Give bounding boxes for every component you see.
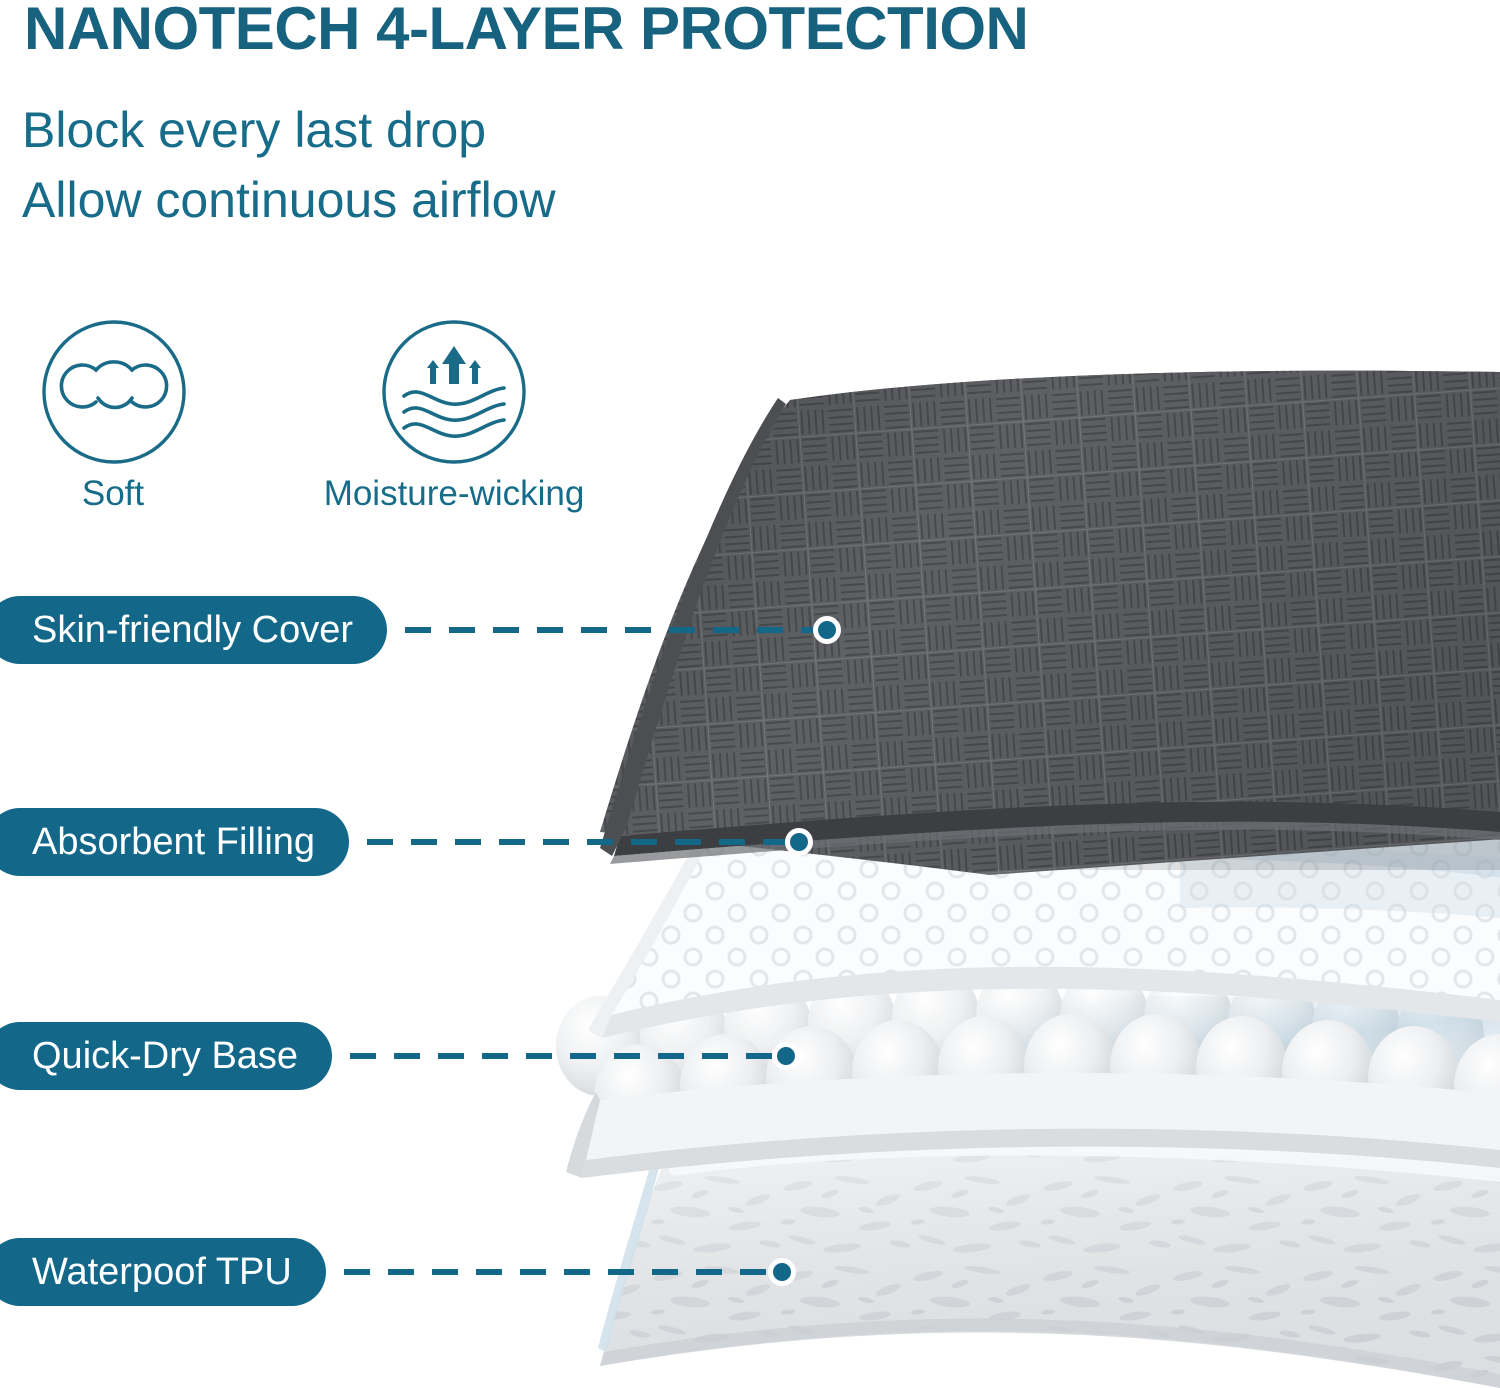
feature-soft-label: Soft (36, 474, 190, 514)
leader-line (367, 839, 785, 845)
callout-label: Skin-friendly Cover (32, 611, 353, 649)
callout-label: Quick-Dry Base (32, 1037, 298, 1075)
leader-endpoint-dot (813, 616, 841, 644)
callout-waterproof-tpu[interactable]: Waterpoof TPU (0, 1238, 768, 1306)
leader-line (344, 1269, 768, 1275)
subtitle-line-1: Block every last drop (22, 105, 486, 155)
callout-skin-friendly-cover[interactable]: Skin-friendly Cover (0, 596, 813, 664)
callout-absorbent-filling[interactable]: Absorbent Filling (0, 808, 785, 876)
leader-endpoint-dot (768, 1258, 796, 1286)
leader-line (405, 627, 813, 633)
callout-label: Absorbent Filling (32, 823, 315, 861)
callout-quick-dry-base[interactable]: Quick-Dry Base (0, 1022, 772, 1090)
callout-pill[interactable]: Quick-Dry Base (0, 1022, 332, 1090)
layer-absorbent-filling (560, 760, 1500, 1050)
feature-moisture-wicking: Moisture-wicking (378, 318, 530, 514)
subtitle-line-2: Allow continuous airflow (22, 175, 556, 225)
moisture-wicking-icon (380, 318, 528, 466)
callout-pill[interactable]: Skin-friendly Cover (0, 596, 387, 664)
callout-label: Waterpoof TPU (32, 1253, 292, 1291)
callout-pill[interactable]: Absorbent Filling (0, 808, 349, 876)
page-title: NANOTECH 4-LAYER PROTECTION (24, 0, 1484, 62)
leader-endpoint-dot (772, 1042, 800, 1070)
feature-moisture-label: Moisture-wicking (320, 474, 588, 514)
cloud-icon (40, 318, 188, 466)
feature-soft: Soft (38, 318, 190, 514)
leader-endpoint-dot (785, 828, 813, 856)
callout-pill[interactable]: Waterpoof TPU (0, 1238, 326, 1306)
leader-line (350, 1053, 772, 1059)
infographic-page: NANOTECH 4-LAYER PROTECTION Block every … (0, 0, 1500, 1388)
